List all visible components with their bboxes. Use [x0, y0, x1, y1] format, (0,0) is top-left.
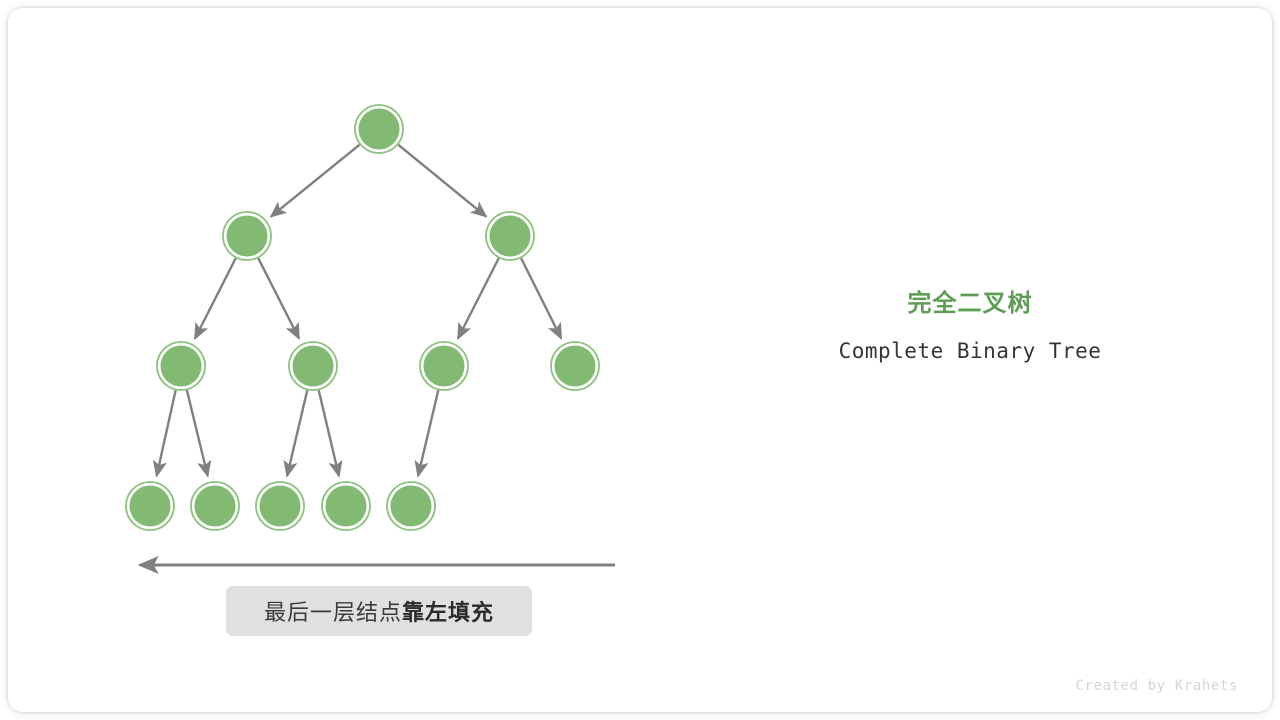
tree-edge: [271, 145, 359, 217]
tree-node-disc: [424, 346, 465, 387]
tree-node[interactable]: [551, 342, 599, 390]
tree-node[interactable]: [486, 212, 534, 260]
tree-node-disc: [391, 486, 432, 527]
diagram-canvas: 完全二叉树 Complete Binary Tree 最后一层结点靠左填充 Cr…: [0, 0, 1280, 720]
tree-edge: [258, 258, 299, 338]
tree-node[interactable]: [322, 482, 370, 530]
annotation-plain-part: 最后一层结点: [264, 600, 402, 625]
tree-edge: [319, 390, 339, 475]
tree-node[interactable]: [256, 482, 304, 530]
tree-node-disc: [260, 486, 301, 527]
tree-node-disc: [161, 346, 202, 387]
tree-node-disc: [490, 216, 531, 257]
tree-edge: [458, 258, 499, 338]
annotation-bold-part: 靠左填充: [402, 600, 494, 625]
annotation-badge-label: 最后一层结点靠左填充: [264, 595, 494, 627]
tree-node[interactable]: [355, 105, 403, 153]
tree-edge: [187, 390, 208, 476]
annotation-badge: 最后一层结点靠左填充: [226, 586, 532, 636]
tree-node[interactable]: [387, 482, 435, 530]
tree-node-disc: [326, 486, 367, 527]
tree-node[interactable]: [289, 342, 337, 390]
footer-credit: Created by Krahets: [1075, 678, 1238, 694]
tree-node[interactable]: [420, 342, 468, 390]
tree-node-layer: [126, 105, 599, 530]
caption-block: 完全二叉树 Complete Binary Tree: [760, 290, 1180, 364]
page-subtitle: Complete Binary Tree: [760, 339, 1180, 364]
tree-node-disc: [130, 486, 171, 527]
tree-edge-layer: [157, 145, 561, 476]
tree-edge: [418, 390, 438, 475]
tree-edge: [398, 145, 486, 217]
tree-edge: [521, 258, 561, 338]
tree-node[interactable]: [126, 482, 174, 530]
tree-node-disc: [227, 216, 268, 257]
tree-edge: [157, 390, 176, 475]
tree-node[interactable]: [191, 482, 239, 530]
tree-node-disc: [555, 346, 596, 387]
tree-node[interactable]: [223, 212, 271, 260]
tree-node-disc: [195, 486, 236, 527]
tree-edge: [195, 258, 236, 338]
tree-node[interactable]: [157, 342, 205, 390]
page-title: 完全二叉树: [760, 290, 1180, 319]
tree-node-disc: [359, 109, 400, 150]
tree-node-disc: [293, 346, 334, 387]
tree-edge: [287, 390, 307, 475]
